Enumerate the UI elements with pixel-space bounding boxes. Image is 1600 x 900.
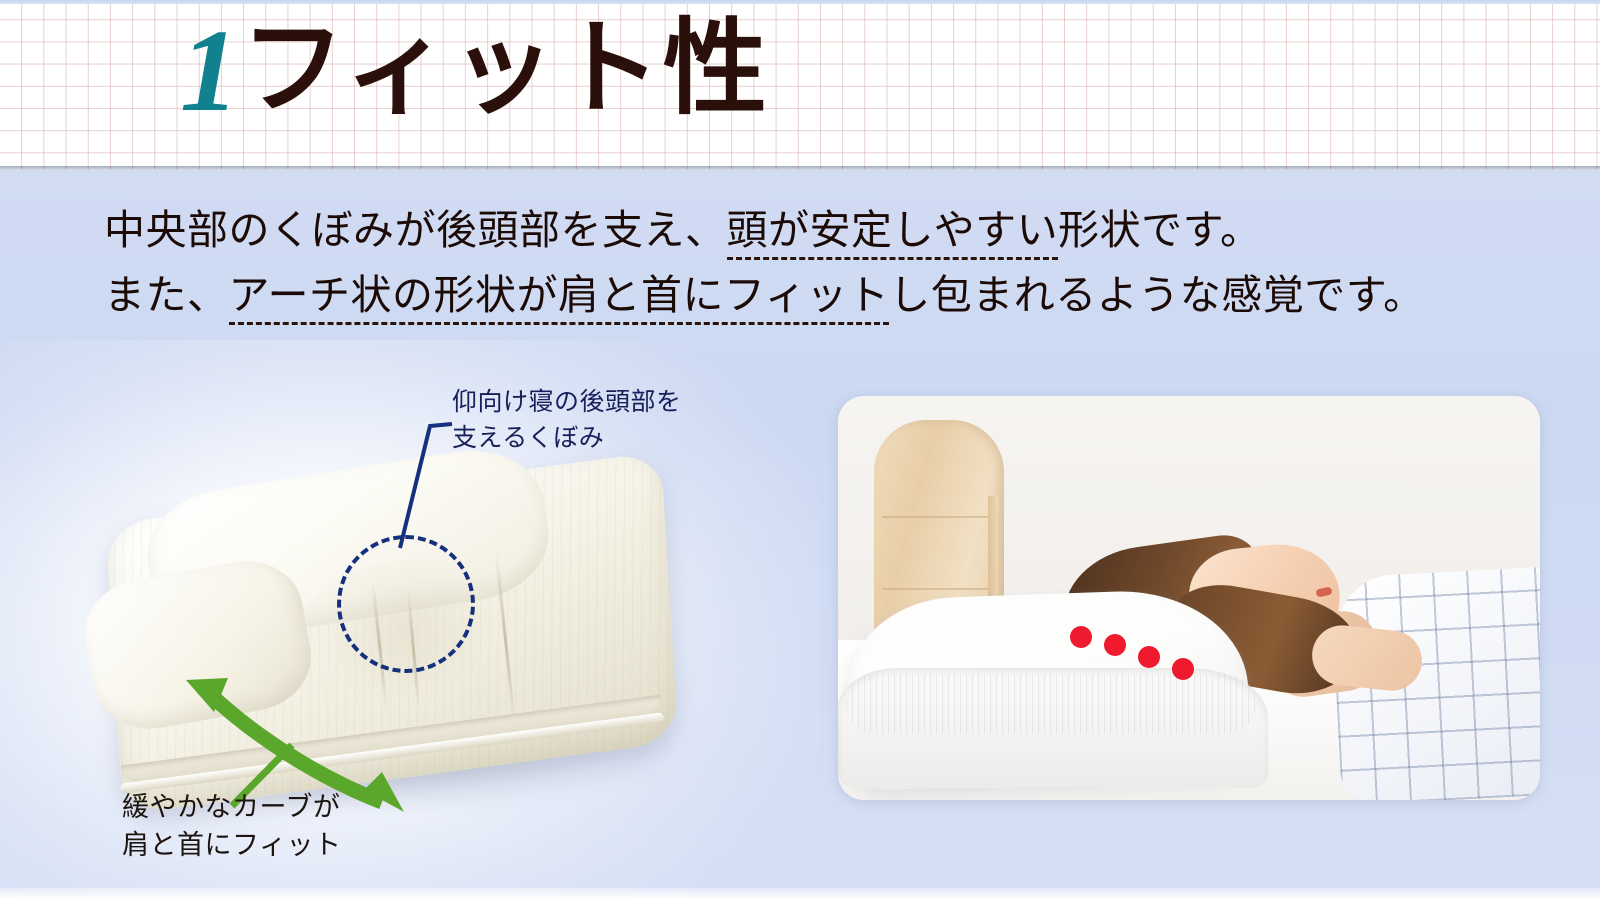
callout-hollow-line-1: 仰向け寝の後頭部を (452, 385, 682, 421)
page-title: 1フィット性 (180, 12, 769, 130)
lead-line-1-emphasis: 頭が安定しやすい (727, 207, 1059, 260)
header-top-rule (0, 0, 1600, 4)
lead-line-1: 中央部のくぼみが後頭部を支え、頭が安定しやすい形状です。 (104, 198, 1504, 263)
headboard-line-1 (882, 516, 988, 518)
support-dot-2 (1104, 634, 1126, 656)
headboard-line-2 (882, 588, 988, 590)
hollow-marker-circle (337, 535, 475, 673)
support-dot-1 (1070, 626, 1092, 648)
callout-hollow-line-2: 支えるくぼみ (452, 421, 682, 457)
header-band: 1フィット性 (0, 0, 1600, 170)
section-number: 1 (180, 5, 237, 136)
callout-curve-line-1: 緩やかなカーブが (122, 788, 341, 826)
callout-curve-line-2: 肩と首にフィット (122, 826, 341, 864)
section-title-text: フィット性 (241, 12, 769, 127)
lead-line-2-part-a: また、 (104, 272, 229, 318)
lead-line-2-emphasis: アーチ状の形状が肩と首にフィット (229, 272, 890, 325)
lead-line-1-part-a: 中央部のくぼみが後頭部を支え、 (104, 207, 727, 253)
photo-pillow-mesh-texture (846, 674, 1256, 734)
callout-curve: 緩やかなカーブが 肩と首にフィット (122, 788, 341, 865)
support-dot-4 (1172, 658, 1194, 680)
callout-hollow: 仰向け寝の後頭部を 支えるくぼみ (452, 385, 682, 456)
lead-paragraph: 中央部のくぼみが後頭部を支え、頭が安定しやすい形状です。 また、アーチ状の形状が… (104, 198, 1504, 328)
support-dot-3 (1138, 646, 1160, 668)
infographic-page: 1フィット性 中央部のくぼみが後頭部を支え、頭が安定しやすい形状です。 また、ア… (0, 0, 1600, 900)
lead-line-2-part-b: し包まれるような感覚です。 (889, 272, 1424, 318)
lead-line-2: また、アーチ状の形状が肩と首にフィットし包まれるような感覚です。 (104, 263, 1504, 328)
page-bottom-edge (0, 888, 1600, 900)
lead-line-1-part-b: 形状です。 (1058, 207, 1261, 253)
product-photo (838, 396, 1540, 800)
